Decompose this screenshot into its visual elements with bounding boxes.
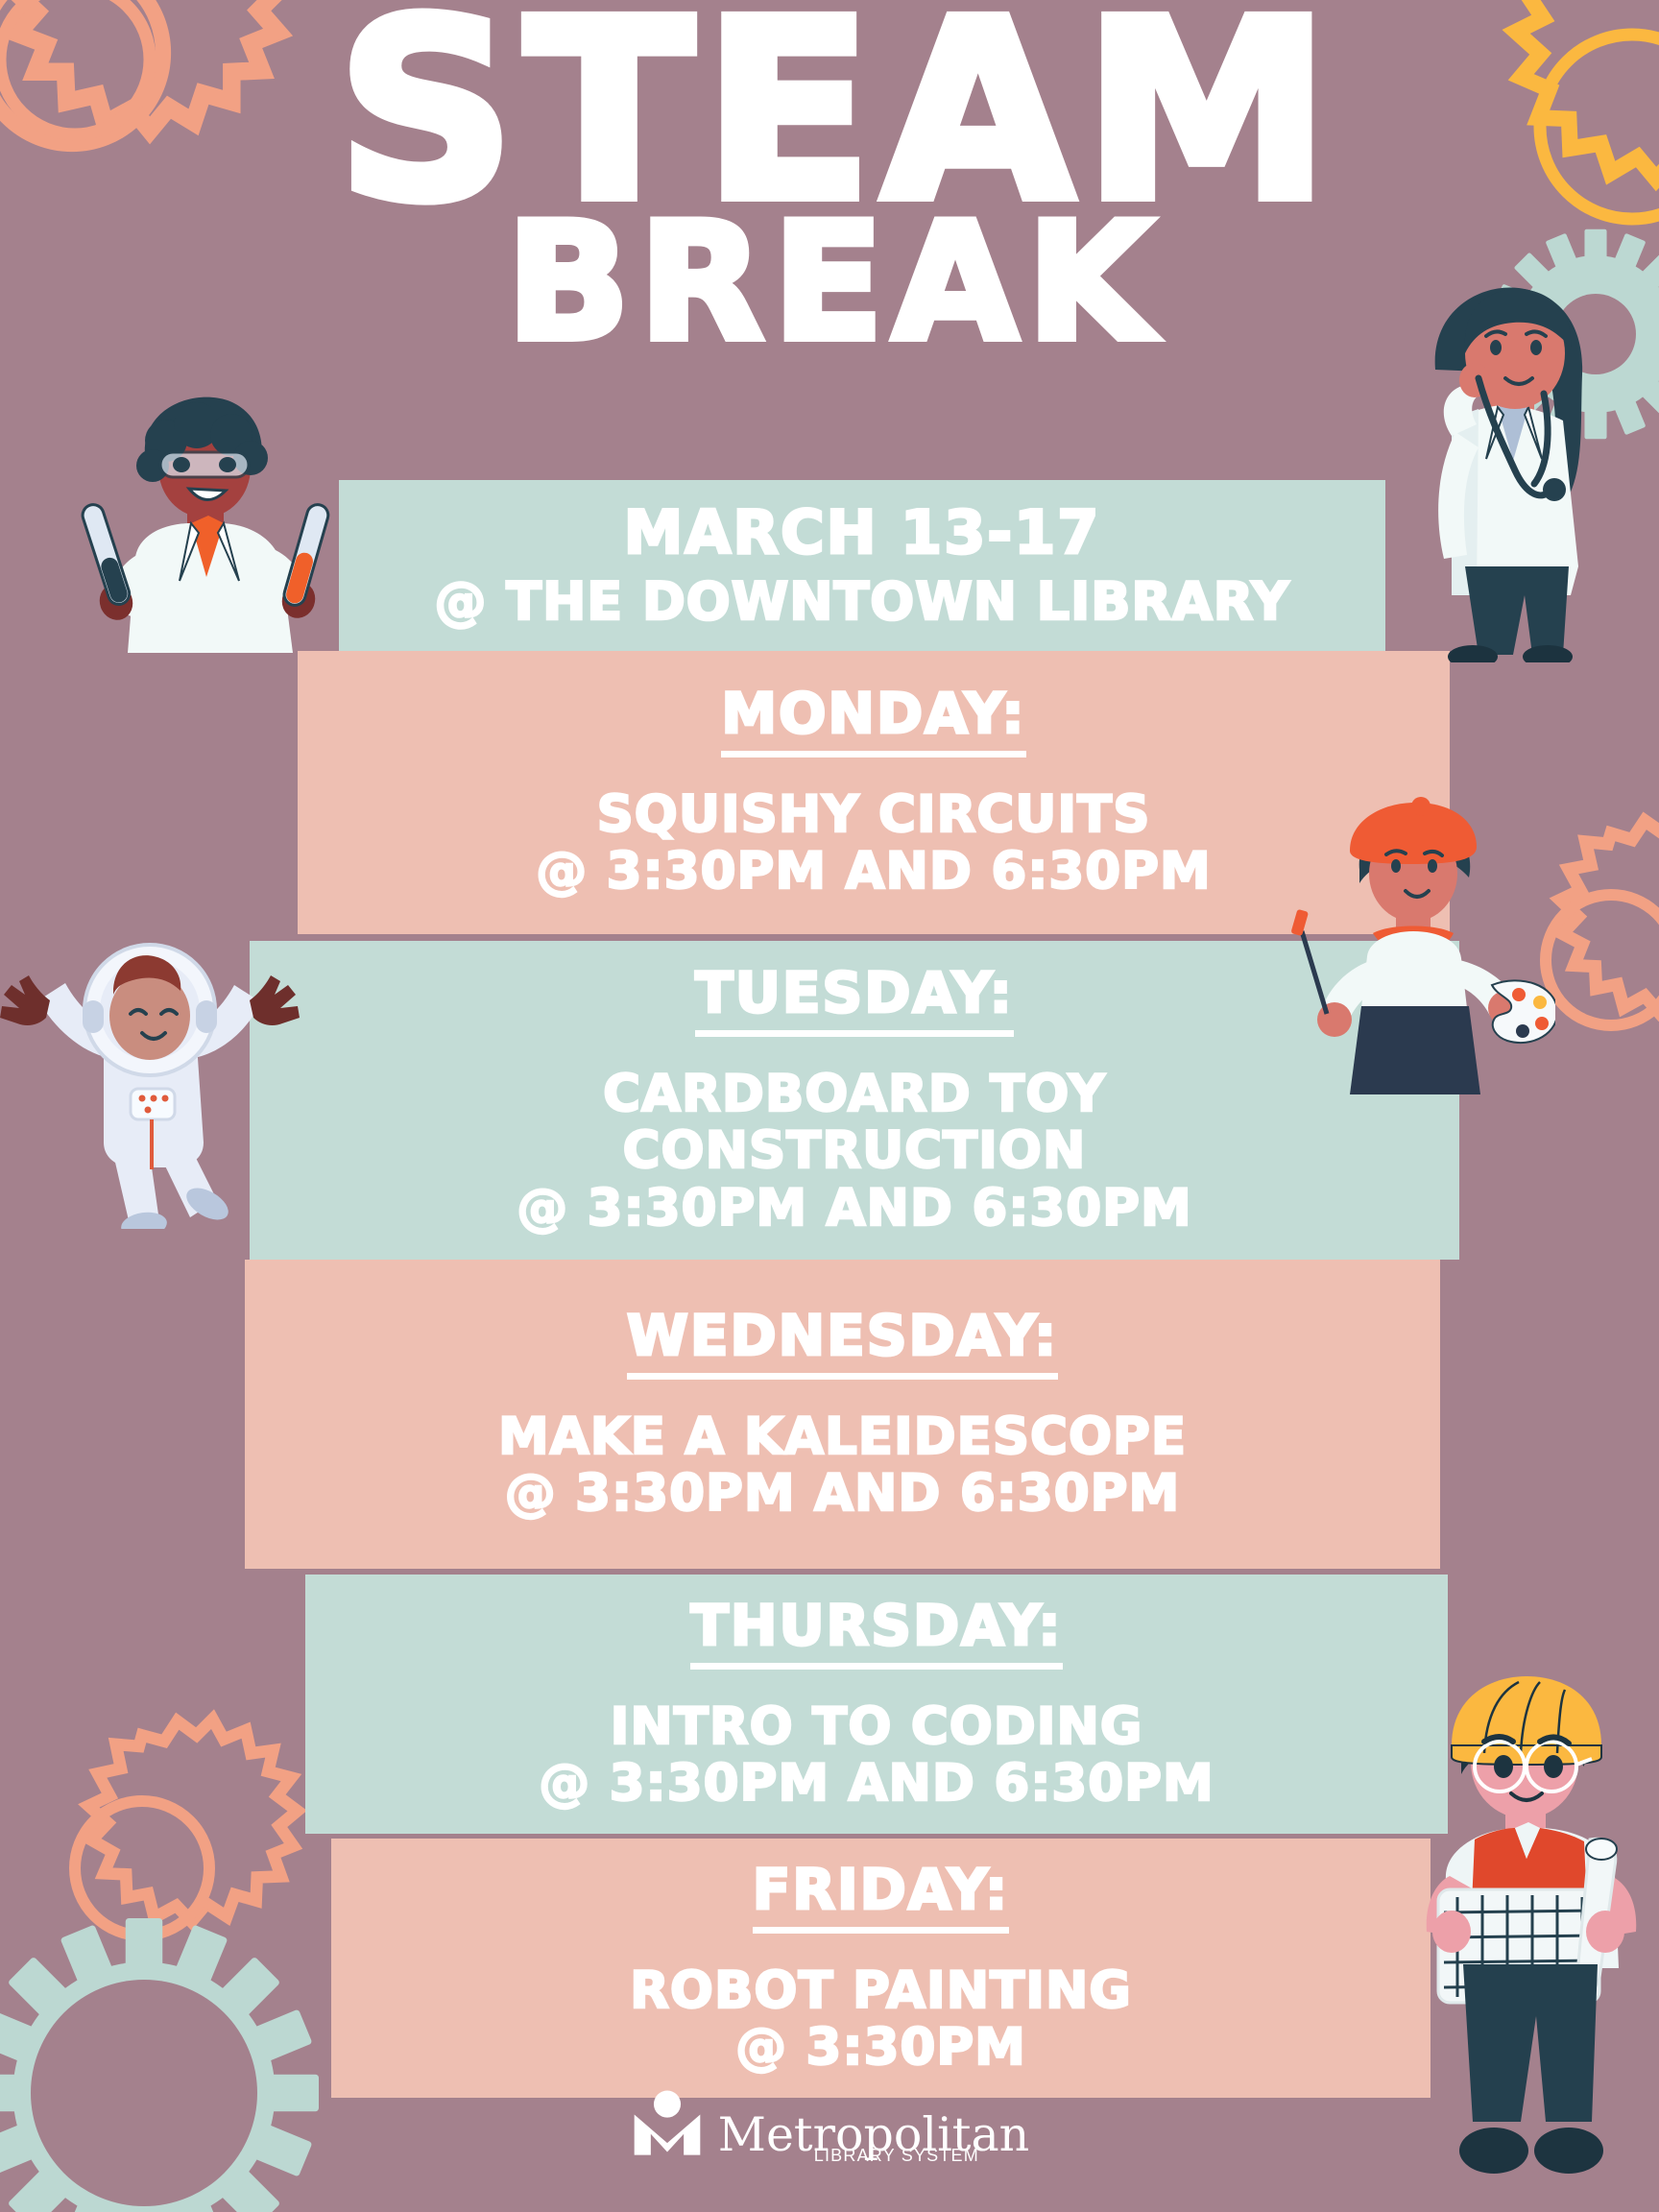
logo-text-block: Metropolitan LIBRARY SYSTEM — [718, 2111, 1029, 2164]
day-label-monday: MONDAY: — [721, 685, 1025, 757]
library-logo: Metropolitan LIBRARY SYSTEM — [0, 2089, 1659, 2164]
header-location: @ THE DOWNTOWN LIBRARY — [434, 573, 1289, 630]
activity-thursday: INTRO TO CODING — [611, 1698, 1143, 1755]
times-wednesday: @ 3:30PM AND 6:30PM — [505, 1465, 1181, 1522]
activity-friday: ROBOT PAINTING — [630, 1962, 1132, 2019]
astronaut-child-illustration — [0, 912, 307, 1229]
activity-wednesday: MAKE A KALEIDESCOPE — [498, 1408, 1187, 1465]
title-steam: STEAM — [0, 8, 1659, 216]
gear-outline-bottom-left — [75, 1719, 298, 1935]
activity-tuesday-line1: CARDBOARD TOY — [603, 1066, 1106, 1122]
activity-tuesday-line2: CONSTRUCTION — [623, 1122, 1087, 1179]
day-label-tuesday: TUESDAY: — [695, 964, 1014, 1037]
header-dates: MARCH 13-17 — [624, 501, 1101, 564]
times-friday: @ 3:30PM — [735, 2019, 1026, 2076]
day-label-thursday: THURSDAY: — [690, 1597, 1062, 1670]
times-thursday: @ 3:30PM AND 6:30PM — [539, 1755, 1214, 1812]
title-break: BREAK — [0, 206, 1659, 360]
banner-thursday: THURSDAY: INTRO TO CODING @ 3:30PM AND 6… — [305, 1575, 1448, 1834]
banner-header: MARCH 13-17 @ THE DOWNTOWN LIBRARY — [339, 480, 1385, 651]
day-label-wednesday: WEDNESDAY: — [627, 1307, 1058, 1380]
metropolitan-m-icon — [630, 2089, 705, 2164]
logo-subtitle: LIBRARY SYSTEM — [814, 2147, 979, 2164]
chemist-with-test-tubes-illustration — [53, 389, 341, 653]
banner-wednesday: WEDNESDAY: MAKE A KALEIDESCOPE @ 3:30PM … — [245, 1260, 1440, 1569]
artist-with-palette-illustration — [1267, 797, 1555, 1094]
day-label-friday: FRIDAY: — [753, 1861, 1010, 1934]
times-tuesday: @ 3:30PM AND 6:30PM — [517, 1180, 1192, 1237]
gear-outline-mid-right — [1546, 819, 1659, 1025]
poster-title: STEAM BREAK — [0, 8, 1659, 359]
banner-friday: FRIDAY: ROBOT PAINTING @ 3:30PM — [331, 1839, 1431, 2098]
poster-canvas: STEAM BREAK — [0, 0, 1659, 2212]
times-monday: @ 3:30PM AND 6:30PM — [536, 843, 1212, 900]
activity-monday: SQUISHY CIRCUITS — [597, 786, 1151, 843]
